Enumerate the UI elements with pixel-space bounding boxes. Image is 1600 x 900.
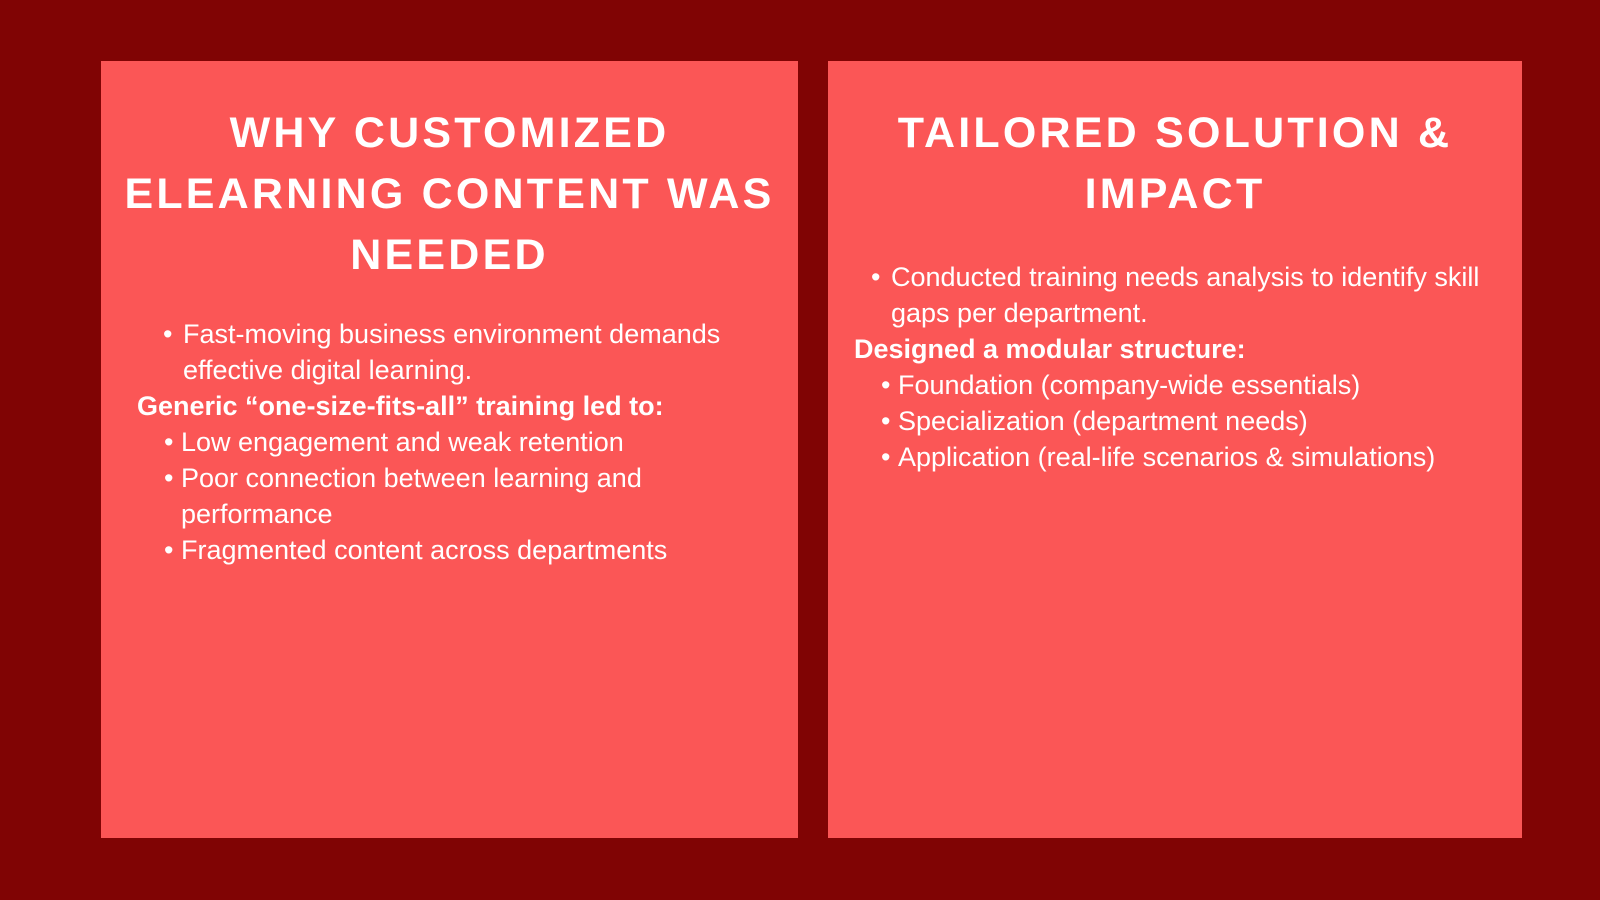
card-why-customized-elearning: WHY CUSTOMIZED ELEARNING CONTENT WAS NEE… — [101, 61, 798, 838]
card-title-left: WHY CUSTOMIZED ELEARNING CONTENT WAS NEE… — [101, 61, 798, 286]
list-item: Low engagement and weak retention — [137, 424, 798, 460]
lead-bullet-text: Conducted training needs analysis to ide… — [891, 262, 1479, 328]
subhead-left: Generic “one-size-fits-all” training led… — [137, 388, 737, 424]
sub-bullet-text: Low engagement and weak retention — [181, 427, 624, 457]
lead-bullet-list-left: Fast-moving business environment demands… — [137, 316, 798, 388]
list-item: Conducted training needs analysis to ide… — [845, 259, 1522, 331]
list-item: Fast-moving business environment demands… — [137, 316, 798, 388]
card-body-right: Conducted training needs analysis to ide… — [828, 259, 1522, 475]
sub-bullet-text: Foundation (company-wide essentials) — [898, 370, 1360, 400]
list-item: Application (real-life scenarios & simul… — [845, 439, 1522, 475]
lead-bullet-text: Fast-moving business environment demands… — [183, 319, 720, 385]
sub-bullet-text: Poor connection between learning and per… — [181, 463, 642, 529]
sub-bullet-list-left: Low engagement and weak retention Poor c… — [137, 424, 798, 568]
list-item: Fragmented content across departments — [137, 532, 798, 568]
subhead-right: Designed a modular structure: — [845, 331, 1522, 367]
slide-canvas: WHY CUSTOMIZED ELEARNING CONTENT WAS NEE… — [0, 0, 1600, 900]
card-tailored-solution-impact: TAILORED SOLUTION & IMPACT Conducted tra… — [828, 61, 1522, 838]
card-title-right: TAILORED SOLUTION & IMPACT — [828, 61, 1522, 225]
list-item: Foundation (company-wide essentials) — [845, 367, 1522, 403]
sub-bullet-list-right: Foundation (company-wide essentials) Spe… — [845, 367, 1522, 475]
sub-bullet-text: Fragmented content across departments — [181, 535, 667, 565]
sub-bullet-text: Application (real-life scenarios & simul… — [898, 442, 1435, 472]
lead-bullet-list-right: Conducted training needs analysis to ide… — [845, 259, 1522, 331]
sub-bullet-text: Specialization (department needs) — [898, 406, 1308, 436]
list-item: Poor connection between learning and per… — [137, 460, 798, 532]
list-item: Specialization (department needs) — [845, 403, 1522, 439]
card-body-left: Fast-moving business environment demands… — [101, 316, 798, 568]
